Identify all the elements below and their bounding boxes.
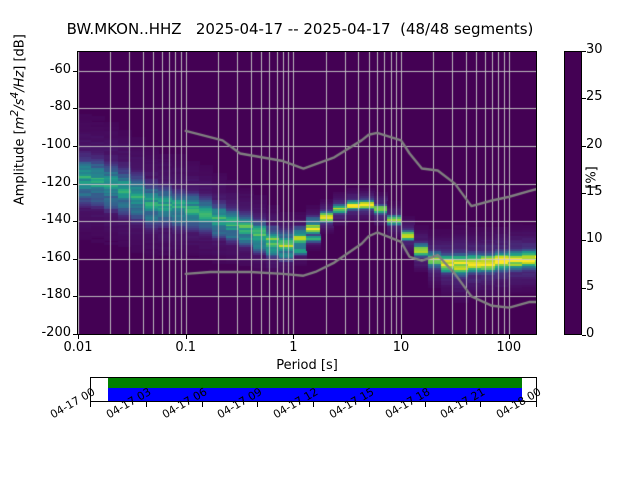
y-axis-tick-mark: [73, 221, 77, 222]
timeline-tick-mark: [257, 402, 258, 407]
timeline-tick-mark: [536, 402, 537, 407]
timeline-tick-mark: [90, 402, 91, 407]
colorbar: [564, 51, 582, 335]
y-axis-tick-label: -160: [1, 250, 71, 265]
colorbar-gradient: [565, 52, 581, 334]
x-axis-tick-label: 10: [361, 340, 441, 355]
colorbar-tick-mark: [582, 288, 586, 289]
y-axis-tick-label: -140: [1, 212, 71, 227]
y-axis-tick-mark: [73, 146, 77, 147]
x-axis-tick-mark: [401, 335, 402, 339]
ppsd-histogram-canvas: [78, 52, 536, 334]
colorbar-tick-mark: [582, 335, 586, 336]
y-axis-tick-label: -180: [1, 287, 71, 302]
colorbar-label: [%]: [585, 138, 600, 218]
x-axis-tick-mark: [186, 335, 187, 339]
colorbar-tick-label: 30: [586, 42, 603, 57]
colorbar-tick-mark: [582, 240, 586, 241]
x-axis-tick-label: 0.1: [146, 340, 226, 355]
x-axis-tick-mark: [78, 335, 79, 339]
y-axis-tick-mark: [73, 259, 77, 260]
y-axis-tick-mark: [73, 334, 77, 335]
timeline-tick-mark: [480, 402, 481, 407]
colorbar-tick-mark: [582, 51, 586, 52]
y-axis-tick-mark: [73, 296, 77, 297]
ppsd-plot-area: [77, 51, 537, 335]
x-axis-tick-mark: [293, 335, 294, 339]
y-axis-tick-label: -100: [1, 137, 71, 152]
y-axis-tick-mark: [73, 184, 77, 185]
x-axis-tick-label: 100: [469, 340, 549, 355]
timeline-tick-mark: [425, 402, 426, 407]
timeline-tick-mark: [146, 402, 147, 407]
colorbar-tick-mark: [582, 98, 586, 99]
y-axis-tick-label: -200: [1, 325, 71, 340]
x-axis-tick-label: 0.01: [38, 340, 118, 355]
timeline-tick-mark: [369, 402, 370, 407]
y-axis-tick-label: -80: [1, 99, 71, 114]
colorbar-tick-label: 25: [586, 89, 603, 104]
y-axis-tick-label: -60: [1, 62, 71, 77]
x-axis-tick-mark: [509, 335, 510, 339]
colorbar-tick-label: 5: [586, 279, 594, 294]
x-axis-label: Period [s]: [77, 358, 537, 373]
y-axis-tick-mark: [73, 108, 77, 109]
page-title: BW.MKON..HHZ 2025-04-17 -- 2025-04-17 (4…: [0, 20, 600, 38]
colorbar-tick-label: 0: [586, 326, 594, 341]
y-axis-tick-mark: [73, 71, 77, 72]
ppsd-figure: BW.MKON..HHZ 2025-04-17 -- 2025-04-17 (4…: [0, 0, 640, 480]
y-axis-tick-label: -120: [1, 175, 71, 190]
timeline-tick-mark: [313, 402, 314, 407]
timeline-tick-mark: [202, 402, 203, 407]
x-axis-tick-label: 1: [253, 340, 333, 355]
colorbar-tick-label: 10: [586, 231, 603, 246]
